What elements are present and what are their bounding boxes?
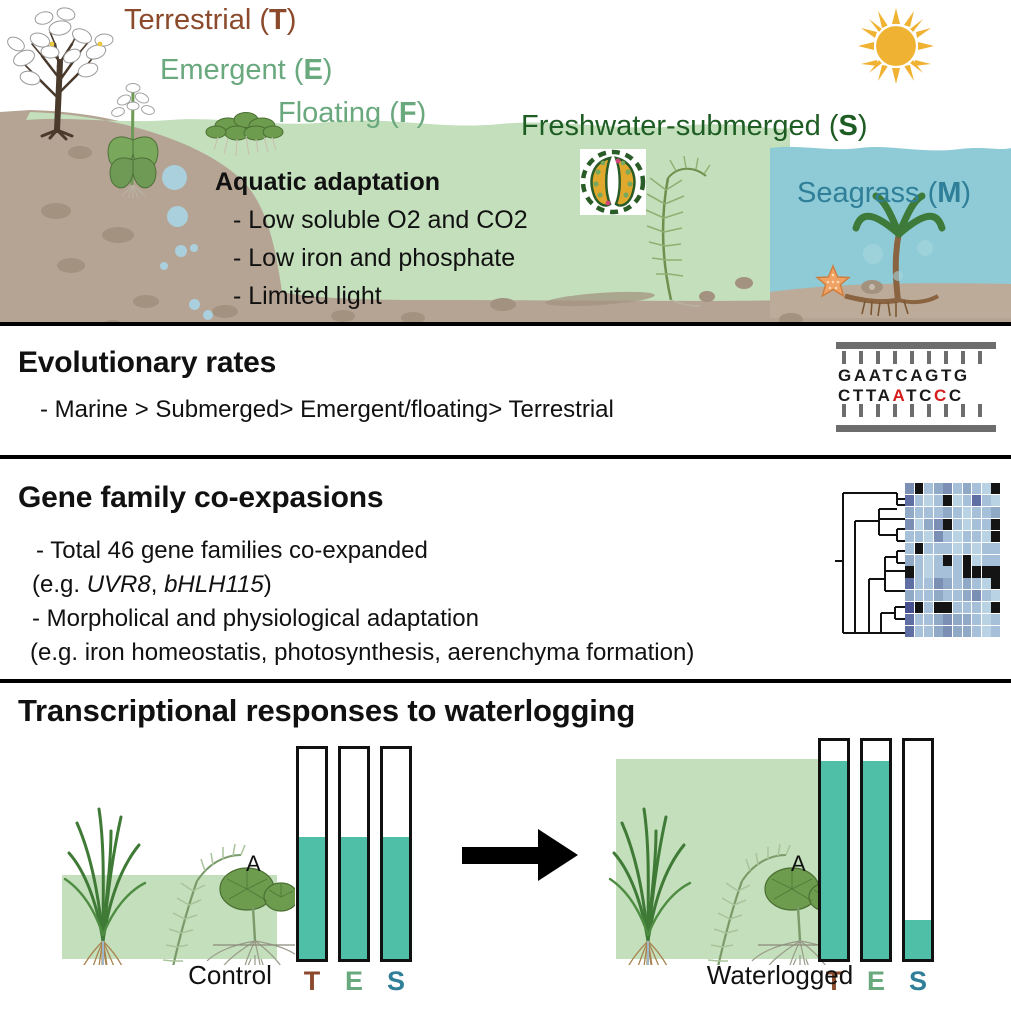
- label-terrestrial-text: Terrestrial (: [124, 4, 269, 36]
- evolutionary-rates-title: Evolutionary rates: [18, 346, 276, 380]
- label-floating-code: F: [399, 97, 417, 129]
- heatmap-cell: [972, 519, 981, 530]
- heatmap-cell: [915, 495, 924, 506]
- heatmap-cell: [953, 614, 962, 625]
- heatmap-cell: [982, 543, 991, 554]
- heatmap-cell: [982, 602, 991, 613]
- heatmap-cell: [991, 578, 1000, 589]
- label-floating: Floating (F): [278, 97, 426, 130]
- heatmap-cell: [953, 543, 962, 554]
- waterlogged-caption: Waterlogged: [660, 960, 900, 991]
- heatmap-cell: [915, 519, 924, 530]
- label-floating-paren: ): [417, 97, 427, 129]
- heatmap-cell: [943, 614, 952, 625]
- heatmap-cell: [972, 614, 981, 625]
- heatmap-cell: [934, 555, 943, 566]
- heatmap-cell: [972, 555, 981, 566]
- heatmap-cell: [915, 483, 924, 494]
- pebble: [133, 295, 159, 308]
- heatmap-cell: [972, 626, 981, 637]
- heatmap-cell: [934, 566, 943, 577]
- bar-fill: [905, 920, 931, 959]
- label-emergent: Emergent (E): [160, 54, 332, 87]
- bar-label-e: E: [338, 966, 370, 997]
- aquatic-adaptation-item-1: - Low iron and phosphate: [233, 244, 528, 273]
- heatmap-cell: [905, 626, 914, 637]
- bubble: [162, 165, 187, 190]
- heatmap-cell: [953, 495, 962, 506]
- heatmap-cell: [924, 555, 933, 566]
- heatmap-cell: [972, 590, 981, 601]
- heatmap-cell: [905, 519, 914, 530]
- evolutionary-rates-panel: Evolutionary rates - Marine > Submerged>…: [0, 326, 1011, 459]
- heatmap-cell: [943, 507, 952, 518]
- heatmap-cell: [915, 531, 924, 542]
- heatmap-cell: [934, 507, 943, 518]
- control-caption: Control: [130, 960, 330, 991]
- heatmap-cell: [924, 483, 933, 494]
- heatmap-cell: [991, 602, 1000, 613]
- heatmap-cell: [963, 626, 972, 637]
- bar-t: [818, 738, 850, 962]
- control-bar-chart: TES: [296, 746, 421, 996]
- heatmap-cell: [953, 578, 962, 589]
- gene-family-line-3: - Morpholical and physiological adaptati…: [32, 605, 479, 633]
- bubble: [203, 310, 213, 320]
- heatmap-cell: [915, 590, 924, 601]
- dna-rail-bottom: [836, 425, 996, 432]
- bubble: [190, 244, 198, 252]
- heatmap-cell: [972, 602, 981, 613]
- bar-label-s: S: [902, 966, 934, 997]
- gene-bhlh115: bHLH115: [164, 571, 264, 598]
- heatmap-cell: [905, 614, 914, 625]
- bar-fill: [299, 837, 325, 959]
- heatmap-cell: [982, 566, 991, 577]
- heatmap-cell: [972, 495, 981, 506]
- heatmap-cell: [991, 483, 1000, 494]
- heatmap-cell: [963, 590, 972, 601]
- heatmap-cell: [924, 590, 933, 601]
- bar-e: [338, 746, 370, 962]
- heatmap-cell: [934, 495, 943, 506]
- heatmap-cell: [943, 519, 952, 530]
- pebble: [735, 277, 753, 289]
- heatmap-cell: [905, 555, 914, 566]
- evolutionary-rates-line: - Marine > Submerged> Emergent/floating>…: [40, 396, 614, 424]
- heatmap-cell: [963, 531, 972, 542]
- heatmap-cell: [953, 555, 962, 566]
- gene-family-line-4: (e.g. iron homeostatis, photosynthesis, …: [30, 639, 694, 667]
- bar-fill: [383, 837, 409, 959]
- heatmap-cell: [963, 566, 972, 577]
- heatmap-cell: [943, 555, 952, 566]
- gene-family-title: Gene family co-expasions: [18, 481, 383, 515]
- heatmap-cell: [943, 543, 952, 554]
- label-terrestrial-paren: ): [287, 4, 297, 36]
- heatmap-cell: [982, 590, 991, 601]
- habitat-scene-panel: Terrestrial (T) Emergent (E) Floating (F…: [0, 0, 1011, 326]
- dna-sequence-icon: GAATCAGTG CTTAATCCC: [832, 342, 1000, 432]
- heatmap-cell: [963, 483, 972, 494]
- dna-bottom-strand: CTTAATCCC: [838, 386, 964, 406]
- heatmap-cell: [924, 495, 933, 506]
- heatmap-cell: [915, 543, 924, 554]
- label-emergent-paren: ): [323, 54, 333, 86]
- heatmap-cell: [915, 614, 924, 625]
- heatmap-cell: [982, 578, 991, 589]
- gene-family-panel: Gene family co-expasions - Total 46 gene…: [0, 459, 1011, 683]
- label-emergent-text: Emergent (: [160, 54, 303, 86]
- heatmap-cell: [991, 543, 1000, 554]
- heatmap-cell: [943, 566, 952, 577]
- pebble: [331, 310, 355, 322]
- gene-family-line2-prefix: (e.g.: [32, 571, 87, 598]
- sun-icon: [858, 8, 934, 89]
- bar-e: [860, 738, 892, 962]
- heatmap-cell: [991, 626, 1000, 637]
- heatmap-cell: [924, 507, 933, 518]
- heatmap-cell: [905, 590, 914, 601]
- pebble: [68, 146, 92, 159]
- heatmap-cell: [963, 495, 972, 506]
- heatmap-cell: [934, 614, 943, 625]
- heatmap-cell: [943, 626, 952, 637]
- heatmap-cell: [934, 578, 943, 589]
- bubble: [189, 299, 200, 310]
- heatmap-cell: [905, 578, 914, 589]
- heatmap-cell: [982, 614, 991, 625]
- heatmap-cell: [924, 566, 933, 577]
- heatmap-cell: [982, 555, 991, 566]
- heatmap-cell: [934, 519, 943, 530]
- label-submerged-code: S: [839, 110, 858, 142]
- heatmap-cell: [915, 507, 924, 518]
- heatmap-cell: [963, 602, 972, 613]
- aquatic-adaptation-item-2: - Limited light: [233, 282, 528, 311]
- heatmap-cell: [972, 578, 981, 589]
- heatmap-cell: [924, 614, 933, 625]
- gene-family-line2-suffix: ): [264, 571, 272, 598]
- heatmap-cell: [915, 555, 924, 566]
- label-floating-text: Floating (: [278, 97, 399, 129]
- gene-family-line-1: - Total 46 gene families co-expanded: [36, 537, 428, 565]
- heatmap-cell: [905, 566, 914, 577]
- bar-s: [380, 746, 412, 962]
- label-emergent-code: E: [303, 54, 322, 86]
- heatmap-cell: [934, 483, 943, 494]
- heatmap-cell: [934, 531, 943, 542]
- heatmap-cell: [905, 602, 914, 613]
- heatmap-cell: [943, 602, 952, 613]
- heatmap-cell: [905, 483, 914, 494]
- heatmap-cell: [905, 531, 914, 542]
- heatmap-cell: [991, 507, 1000, 518]
- heatmap-cell: [953, 626, 962, 637]
- heatmap-cell: [934, 590, 943, 601]
- aquatic-adaptation-item-0: - Low soluble O2 and CO2: [233, 206, 528, 235]
- heatmap-cell: [953, 483, 962, 494]
- heatmap-cell: [972, 483, 981, 494]
- label-seagrass-paren: ): [961, 177, 971, 209]
- pebble: [699, 291, 715, 302]
- bar-fill: [863, 761, 889, 959]
- heatmap-cell: [905, 543, 914, 554]
- transcriptional-responses-panel: Transcriptional responses to waterloggin…: [0, 683, 1011, 1014]
- heatmap-cell: [991, 590, 1000, 601]
- bubble: [175, 245, 187, 257]
- heatmap-cell: [991, 555, 1000, 566]
- heatmap-cell: [991, 519, 1000, 530]
- gene-uvr8: UVR8: [87, 571, 151, 598]
- heatmap-cell: [943, 483, 952, 494]
- control-plant-annotation: A: [246, 851, 261, 877]
- label-seagrass-code: M: [937, 177, 961, 209]
- heatmap-cell: [972, 531, 981, 542]
- heatmap-cell: [924, 626, 933, 637]
- heatmap-grid: [905, 483, 1001, 638]
- aquatic-adaptation-heading: Aquatic adaptation: [215, 168, 528, 197]
- heatmap-cell: [963, 614, 972, 625]
- pebble: [102, 227, 134, 243]
- heatmap-cell: [963, 578, 972, 589]
- heatmap-cell: [915, 578, 924, 589]
- label-seagrass-text: Seagrass (: [797, 177, 937, 209]
- heatmap-cell: [991, 531, 1000, 542]
- pebble: [57, 258, 85, 273]
- heatmap-cell: [943, 495, 952, 506]
- bar-t: [296, 746, 328, 962]
- heatmap-cell: [905, 495, 914, 506]
- heatmap-cell: [924, 578, 933, 589]
- heatmap-cell: [991, 566, 1000, 577]
- dna-top-strand: GAATCAGTG: [838, 366, 970, 386]
- bar-fill: [341, 837, 367, 959]
- label-submerged-paren: ): [858, 110, 868, 142]
- heatmap-cell: [953, 519, 962, 530]
- heatmap-cell: [943, 531, 952, 542]
- gene-family-line-2: (e.g. UVR8, bHLH115): [32, 571, 272, 599]
- heatmap-cell: [924, 531, 933, 542]
- heatmap-cell: [953, 602, 962, 613]
- heatmap-cell: [963, 507, 972, 518]
- heatmap-cell: [982, 495, 991, 506]
- heatmap-cell: [943, 590, 952, 601]
- label-submerged-text: Freshwater-submerged (: [521, 110, 839, 142]
- bubble: [160, 262, 168, 270]
- heatmap-cell: [915, 626, 924, 637]
- heatmap-cell: [982, 483, 991, 494]
- heatmap-cell: [905, 507, 914, 518]
- heatmap-cell: [963, 555, 972, 566]
- dna-rail-top: [836, 342, 996, 349]
- heatmap-cell: [934, 626, 943, 637]
- bar-label-s: S: [380, 966, 412, 997]
- heatmap-cell: [943, 578, 952, 589]
- graphical-abstract: Terrestrial (T) Emergent (E) Floating (F…: [0, 0, 1011, 1014]
- waterlogged-bar-chart: TES: [818, 738, 951, 996]
- heatmap-cell: [972, 566, 981, 577]
- bar-s: [902, 738, 934, 962]
- gene-family-line2-sep: ,: [151, 571, 164, 598]
- label-terrestrial: Terrestrial (T): [124, 4, 296, 37]
- heatmap-cell: [915, 602, 924, 613]
- heatmap-cell: [972, 543, 981, 554]
- heatmap-cell: [963, 519, 972, 530]
- label-freshwater-submerged: Freshwater-submerged (S): [521, 110, 868, 143]
- heatmap-cell: [991, 495, 1000, 506]
- label-seagrass: Seagrass (M): [797, 177, 971, 210]
- heatmap-cell: [953, 590, 962, 601]
- transition-arrow-icon: [462, 829, 592, 881]
- heatmap-cell: [934, 602, 943, 613]
- aquatic-adaptation-block: Aquatic adaptation - Low soluble O2 and …: [215, 168, 528, 311]
- heatmap-cell: [972, 507, 981, 518]
- waterlogged-plant-annotation: A: [791, 851, 806, 877]
- label-terrestrial-code: T: [269, 4, 287, 36]
- gene-family-heatmap-figure: [833, 483, 1003, 638]
- heatmap-cell: [982, 626, 991, 637]
- bubble: [167, 206, 188, 227]
- pebble: [41, 203, 71, 219]
- heatmap-cell: [982, 531, 991, 542]
- heatmap-cell: [934, 543, 943, 554]
- heatmap-cell: [924, 543, 933, 554]
- heatmap-cell: [963, 543, 972, 554]
- heatmap-cell: [924, 519, 933, 530]
- heatmap-cell: [924, 602, 933, 613]
- transcriptional-title: Transcriptional responses to waterloggin…: [18, 693, 635, 729]
- heatmap-cell: [953, 566, 962, 577]
- heatmap-cell: [982, 507, 991, 518]
- heatmap-cell: [953, 531, 962, 542]
- heatmap-cell: [915, 566, 924, 577]
- heatmap-cell: [982, 519, 991, 530]
- heatmap-cell: [953, 507, 962, 518]
- heatmap-cell: [991, 614, 1000, 625]
- bar-fill: [821, 761, 847, 959]
